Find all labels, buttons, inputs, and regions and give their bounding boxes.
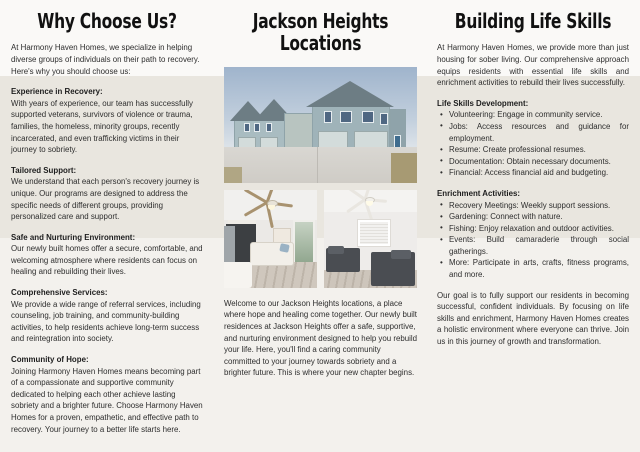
page-title-why-choose-us: Why Choose Us? [24,10,189,32]
section-community-of-hope: Community of Hope: Joining Harmony Haven… [11,354,203,435]
list-item: Recovery Meetings: Weekly support sessio… [437,200,629,212]
section-comprehensive-services: Comprehensive Services: We provide a wid… [11,287,203,345]
group-term: Life Skills Development: [437,98,629,110]
photo-gallery [224,67,417,288]
section-term: Tailored Support: [11,165,203,177]
group-term: Enrichment Activities: [437,188,629,200]
section-safe-and-nurturing-environment: Safe and Nurturing Environment: Our newl… [11,232,203,278]
section-term: Comprehensive Services: [11,287,203,299]
section-text: Our newly built homes offer a secure, co… [11,243,203,278]
page-title-jackson-heights-locations: Jackson Heights Locations [238,10,404,55]
list-item: Gardening: Connect with nature. [437,211,629,223]
building-life-skills-intro: At Harmony Haven Homes, we provide more … [437,42,629,88]
section-text: With years of experience, our team has s… [11,98,203,156]
section-term: Community of Hope: [11,354,203,366]
building-life-skills-closing: Our goal is to fully support our residen… [437,290,629,348]
jackson-heights-body: Welcome to our Jackson Heights locations… [224,298,417,379]
bedroom-photo [324,190,417,288]
photo-row [224,190,417,288]
enrichment-activities-list: Recovery Meetings: Weekly support sessio… [437,200,629,281]
group-life-skills-development: Life Skills Development: Volunteering: E… [437,98,629,179]
column-jackson-heights-locations: Jackson Heights Locations [215,0,425,452]
section-experience-in-recovery: Experience in Recovery: With years of ex… [11,86,203,156]
list-item: Documentation: Obtain necessary document… [437,156,629,168]
section-text: Joining Harmony Haven Homes means becomi… [11,366,203,436]
column-building-life-skills: Building Life Skills At Harmony Haven Ho… [425,0,640,452]
living-room-photo [224,190,317,288]
list-item: Volunteering: Engage in community servic… [437,109,629,121]
list-item: Fishing: Enjoy relaxation and outdoor ac… [437,223,629,235]
page-title-building-life-skills: Building Life Skills [450,10,615,32]
section-term: Safe and Nurturing Environment: [11,232,203,244]
brochure-page: Why Choose Us? At Harmony Haven Homes, w… [0,0,640,452]
list-item: More: Participate in arts, crafts, fitne… [437,257,629,280]
list-item: Financial: Access financial aid and budg… [437,167,629,179]
group-enrichment-activities: Enrichment Activities: Recovery Meetings… [437,188,629,281]
list-item: Events: Build camaraderie through social… [437,234,629,257]
section-term: Experience in Recovery: [11,86,203,98]
why-choose-us-intro: At Harmony Haven Homes, we specialize in… [11,42,203,77]
section-tailored-support: Tailored Support: We understand that eac… [11,165,203,223]
list-item: Jobs: Access resources and guidance for … [437,121,629,144]
column-why-choose-us: Why Choose Us? At Harmony Haven Homes, w… [0,0,215,452]
section-text: We understand that each person's recover… [11,176,203,222]
list-item: Resume: Create professional resumes. [437,144,629,156]
exterior-duplex-photo [224,67,417,183]
section-text: We provide a wide range of referral serv… [11,299,203,345]
life-skills-development-list: Volunteering: Engage in community servic… [437,109,629,179]
